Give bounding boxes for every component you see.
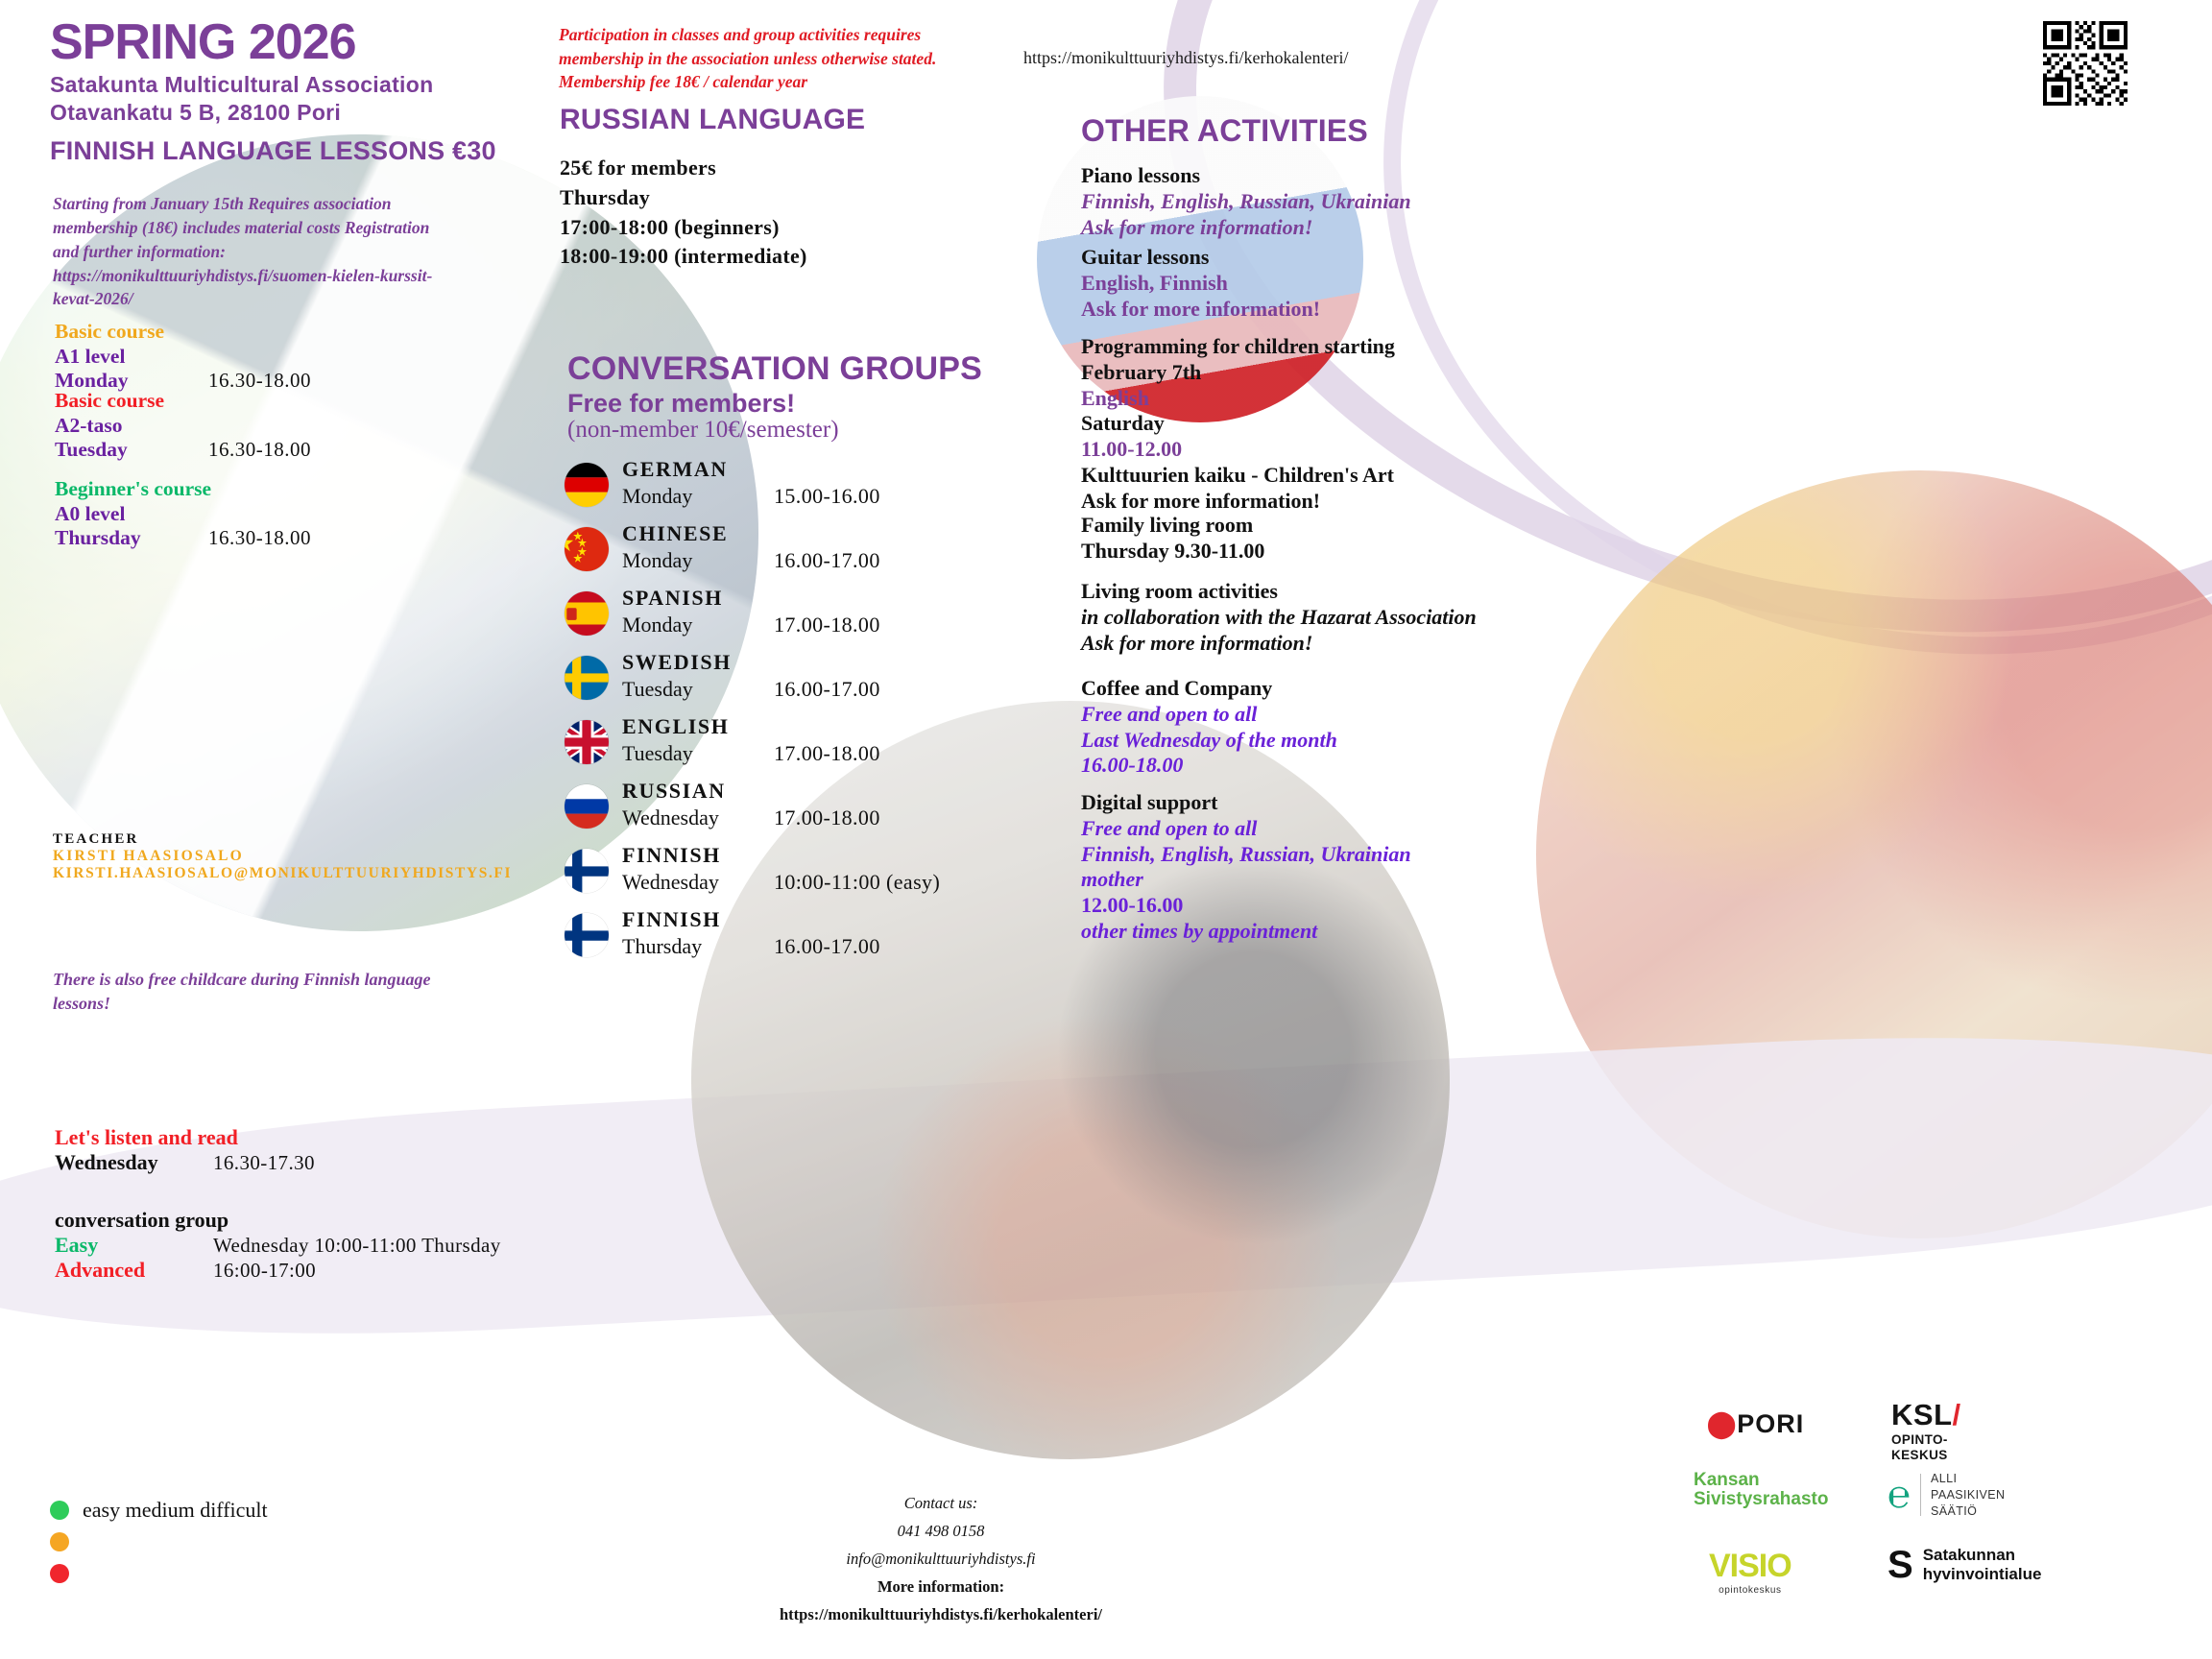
- course-day: Thursday: [55, 526, 208, 550]
- language-name: RUSSIAN: [622, 779, 726, 804]
- course-title: Basic course: [55, 388, 506, 413]
- course-day: Tuesday: [55, 438, 208, 462]
- language-day: Monday: [622, 484, 692, 509]
- language-name: GERMAN: [622, 457, 728, 482]
- list-item: FINNISH Thursday 16.00-17.00: [565, 909, 1160, 974]
- activity-subtitle: Kulttuurien kaiku - Children's Art: [1081, 463, 1811, 489]
- childcare-note: There is also free childcare during Finn…: [53, 968, 437, 1016]
- activity-collaboration: in collaboration with the Hazarat Associ…: [1081, 605, 1811, 631]
- logo-ksl-text: KSL: [1891, 1398, 1953, 1431]
- list-item: FINNISH Wednesday 10:00-11:00 (easy): [565, 845, 1160, 909]
- logo-visio-subtitle: opintokeskus: [1709, 1585, 1791, 1596]
- contact-more-label: More information:: [672, 1574, 1210, 1601]
- course-level: A1 level: [55, 344, 506, 369]
- activity-extra: mother: [1081, 867, 1811, 893]
- language-day: Wednesday: [622, 870, 719, 895]
- course-block: Basic course A1 level Monday 16.30-18.00: [55, 319, 506, 393]
- activity-time: 16.00-18.00: [1081, 753, 1811, 779]
- language-time: 16.00-17.00: [774, 934, 880, 959]
- course-time: 16.30-18.00: [208, 438, 311, 462]
- finnish-intro-text: Starting from January 15th Requires asso…: [53, 192, 456, 311]
- language-name: FINNISH: [622, 907, 721, 932]
- organization-name: Satakunta Multicultural Association Otav…: [50, 71, 645, 128]
- logo-pori-text: PORI: [1737, 1409, 1804, 1438]
- conversation-groups-price-note: (non-member 10€/semester): [567, 417, 839, 444]
- listen-read-day: Wednesday: [55, 1150, 213, 1175]
- activity-time: 11.00-12.00: [1081, 437, 1811, 463]
- activity-block-coffee-and-company: Coffee and Company Free and open to all …: [1081, 676, 1811, 779]
- activity-schedule: Thursday 9.30-11.00: [1081, 539, 1811, 565]
- conversation-group-heading: conversation group: [55, 1208, 554, 1233]
- logo-ksl-title: KSL/: [1891, 1398, 1961, 1432]
- language-day: Monday: [622, 548, 692, 573]
- section-heading-finnish-lessons: FINNISH LANGUAGE LESSONS €30: [50, 136, 496, 166]
- contact-block: Contact us: 041 498 0158 info@monikulttu…: [672, 1490, 1210, 1628]
- legend-dot-medium: [50, 1532, 69, 1551]
- conversation-level-easy: Easy: [55, 1233, 213, 1258]
- listen-and-read-block: Let's listen and read Wednesday 16.30-17…: [55, 1125, 554, 1283]
- difficulty-legend: easy medium difficult: [50, 1494, 268, 1589]
- activity-block-guitar: Guitar lessons English, Finnish Ask for …: [1081, 245, 1811, 322]
- activity-title: Piano lessons: [1081, 163, 1811, 189]
- section-heading-other-activities: OTHER ACTIVITIES: [1081, 113, 1368, 149]
- activity-title: Coffee and Company: [1081, 676, 1811, 702]
- logo-satakunnan-hyvinvointialue: S Satakunnan hyvinvointialue: [1887, 1546, 2041, 1583]
- divider: [1920, 1474, 1921, 1516]
- logo-visio-text: VISIO: [1709, 1548, 1791, 1585]
- satakunta-mark-icon: S: [1887, 1549, 1913, 1581]
- activity-title: Digital support: [1081, 790, 1811, 816]
- activity-time: 12.00-16.00: [1081, 893, 1811, 919]
- activity-note: other times by appointment: [1081, 919, 1811, 945]
- activity-schedule: Last Wednesday of the month: [1081, 728, 1811, 754]
- list-item: SPANISH Monday 17.00-18.00: [565, 588, 1160, 652]
- language-day: Monday: [622, 613, 692, 637]
- language-name: FINNISH: [622, 843, 721, 868]
- activity-title: Family living room: [1081, 513, 1811, 539]
- russian-price: 25€ for members: [560, 154, 963, 183]
- legend-dot-easy: [50, 1501, 69, 1520]
- language-day: Wednesday: [622, 805, 719, 830]
- course-level: A0 level: [55, 501, 506, 526]
- activity-languages: Finnish, English, Russian, Ukrainian: [1081, 189, 1811, 215]
- page-title: SPRING 2026: [50, 13, 356, 71]
- flag-spain-icon: [565, 591, 609, 636]
- conversation-level-advanced: Advanced: [55, 1258, 213, 1283]
- language-name: CHINESE: [622, 521, 728, 546]
- listen-read-heading: Let's listen and read: [55, 1125, 554, 1150]
- activity-day: Saturday: [1081, 411, 1811, 437]
- list-item: RUSSIAN Wednesday 17.00-18.00: [565, 781, 1160, 845]
- flag-china-icon: [565, 527, 609, 571]
- legend-dot-difficult: [50, 1564, 69, 1583]
- section-heading-conversation-groups: CONVERSATION GROUPS: [567, 350, 982, 388]
- russian-day: Thursday: [560, 183, 963, 213]
- flag-germany-icon: [565, 463, 609, 507]
- course-block: Basic course A2-taso Tuesday 16.30-18.00: [55, 388, 506, 462]
- activity-languages: Finnish, English, Russian, Ukrainian: [1081, 842, 1811, 868]
- activity-title: Programming for children starting: [1081, 334, 1811, 360]
- qr-code-icon[interactable]: [2043, 21, 2128, 106]
- course-title: Beginner's course: [55, 476, 506, 501]
- list-item: GERMAN Monday 15.00-16.00: [565, 459, 1160, 523]
- activity-access: Free and open to all: [1081, 816, 1811, 842]
- russian-slot-beginners: 17:00-18:00 (beginners): [560, 213, 963, 243]
- activity-title: Guitar lessons: [1081, 245, 1811, 271]
- contact-label: Contact us:: [672, 1490, 1210, 1518]
- organization-line-1: Satakunta Multicultural Association: [50, 71, 645, 99]
- list-item: ENGLISH Tuesday 17.00-18.00: [565, 716, 1160, 781]
- logo-ksl-subtitle: OPINTO- KESKUS: [1891, 1432, 1961, 1462]
- logo-ksl: KSL/ OPINTO- KESKUS: [1891, 1398, 1961, 1462]
- section-heading-russian: RUSSIAN LANGUAGE: [560, 104, 865, 136]
- language-time: 15.00-16.00: [774, 484, 880, 509]
- activity-cta: Ask for more information!: [1081, 215, 1811, 241]
- logo-pori: ⬤PORI: [1707, 1409, 1804, 1439]
- activity-title: Living room activities: [1081, 579, 1811, 605]
- conversation-advanced-time: 16:00-17:00: [213, 1259, 316, 1283]
- course-title: Basic course: [55, 319, 506, 344]
- language-day: Thursday: [622, 934, 702, 959]
- activity-block-piano: Piano lessons Finnish, English, Russian,…: [1081, 163, 1811, 240]
- language-name: ENGLISH: [622, 714, 729, 739]
- language-name: SPANISH: [622, 586, 723, 611]
- activity-block-family-living-room: Family living room Thursday 9.30-11.00: [1081, 513, 1811, 565]
- activity-block-living-room-activities: Living room activities in collaboration …: [1081, 579, 1811, 656]
- conversation-groups-subheading: Free for members!: [567, 389, 795, 419]
- language-time: 10:00-11:00 (easy): [774, 870, 940, 895]
- sponsor-logos: ⬤PORI KSL/ OPINTO- KESKUS Kansan Sivisty…: [1699, 1402, 2179, 1623]
- activity-block-programming: Programming for children starting Februa…: [1081, 334, 1811, 515]
- flag-finland-icon: [565, 913, 609, 957]
- flag-finland-icon: [565, 849, 609, 893]
- language-time: 17.00-18.00: [774, 741, 880, 766]
- language-day: Tuesday: [622, 677, 693, 702]
- logo-satakunnan-text: Satakunnan hyvinvointialue: [1923, 1546, 2042, 1583]
- activity-language: English: [1081, 386, 1811, 412]
- language-time: 17.00-18.00: [774, 613, 880, 637]
- course-block: Beginner's course A0 level Thursday 16.3…: [55, 476, 506, 550]
- language-time: 16.00-17.00: [774, 677, 880, 702]
- activity-languages: English, Finnish: [1081, 271, 1811, 297]
- conversation-easy-time: Wednesday 10:00-11:00 Thursday: [213, 1234, 501, 1258]
- language-time: 17.00-18.00: [774, 805, 880, 830]
- logo-alli-paasikiven-saatio: ℮ ALLI PAASIKIVEN SÄÄTIÖ: [1887, 1471, 2005, 1520]
- list-item: CHINESE Monday 16.00-17.00: [565, 523, 1160, 588]
- contact-email[interactable]: info@monikulttuuriyhdistys.fi: [672, 1546, 1210, 1574]
- flag-sweden-icon: [565, 656, 609, 700]
- teacher-label: TEACHER: [53, 831, 552, 848]
- activity-cta: Ask for more information!: [1081, 489, 1811, 515]
- activity-start-date: February 7th: [1081, 360, 1811, 386]
- flag-russia-icon: [565, 784, 609, 829]
- list-item: SWEDISH Tuesday 16.00-17.00: [565, 652, 1160, 716]
- listen-read-time: 16.30-17.30: [213, 1151, 315, 1175]
- flag-uk-icon: [565, 720, 609, 764]
- poster-root: SPRING 2026 Satakunta Multicultural Asso…: [0, 0, 2212, 1659]
- logo-kansan-sivistysrahasto: Kansan Sivistysrahasto: [1694, 1471, 1828, 1509]
- teacher-name: KIRSTI HAASIOSALO: [53, 848, 552, 865]
- contact-url[interactable]: https://monikulttuuriyhdistys.fi/kerhoka…: [672, 1601, 1210, 1629]
- language-name: SWEDISH: [622, 650, 732, 675]
- teacher-info: TEACHER KIRSTI HAASIOSALO KIRSTI.HAASIOS…: [53, 831, 552, 882]
- contact-phone: 041 498 0158: [672, 1518, 1210, 1546]
- russian-details: 25€ for members Thursday 17:00-18:00 (be…: [560, 154, 963, 272]
- legend-label: easy medium difficult: [83, 1498, 268, 1523]
- language-time: 16.00-17.00: [774, 548, 880, 573]
- course-level: A2-taso: [55, 413, 506, 438]
- top-calendar-url[interactable]: https://monikulttuuriyhdistys.fi/kerhoka…: [1023, 48, 1348, 68]
- course-time: 16.30-18.00: [208, 526, 311, 550]
- russian-slot-intermediate: 18:00-19:00 (intermediate): [560, 242, 963, 272]
- activity-cta: Ask for more information!: [1081, 297, 1811, 323]
- membership-note: Participation in classes and group activ…: [559, 23, 943, 94]
- activity-block-digital-support: Digital support Free and open to all Fin…: [1081, 790, 1811, 945]
- language-group-list: GERMAN Monday 15.00-16.00 CHINESE Monday…: [565, 459, 1160, 974]
- alli-monogram-icon: ℮: [1887, 1478, 1911, 1512]
- activity-cta: Ask for more information!: [1081, 631, 1811, 657]
- logo-visio: VISIO opintokeskus: [1709, 1548, 1791, 1596]
- activity-access: Free and open to all: [1081, 702, 1811, 728]
- logo-alli-text: ALLI PAASIKIVEN SÄÄTIÖ: [1931, 1471, 2005, 1520]
- organization-address: Otavankatu 5 B, 28100 Pori: [50, 99, 645, 127]
- language-day: Tuesday: [622, 741, 693, 766]
- teacher-email[interactable]: KIRSTI.HAASIOSALO@MONIKULTTUURIYHDISTYS.…: [53, 865, 552, 882]
